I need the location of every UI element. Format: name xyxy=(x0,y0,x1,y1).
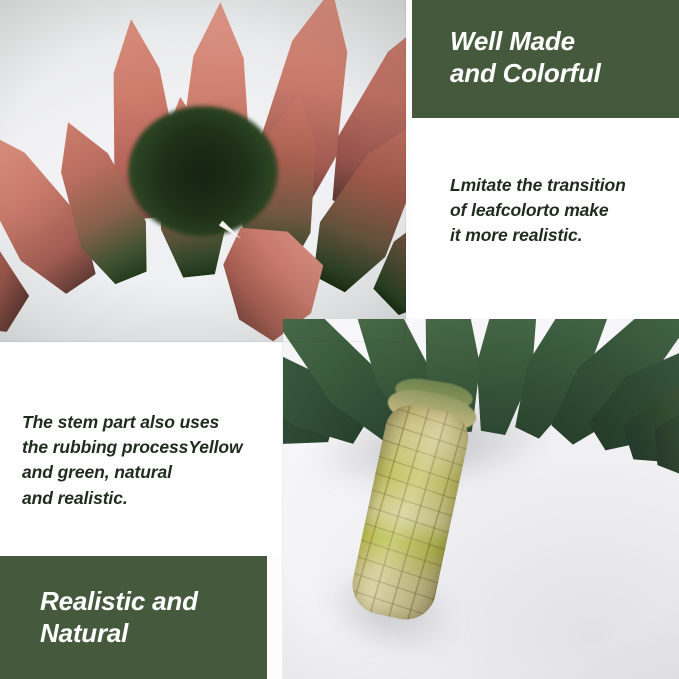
paragraph-leaf-color-transition: Lmitate the transition of leafcolorto ma… xyxy=(450,173,665,249)
divider xyxy=(405,0,406,342)
divider xyxy=(0,341,406,342)
headline-realistic-and-natural: Realistic and Natural xyxy=(40,586,198,649)
divider xyxy=(282,319,283,679)
photo-succulent-top-view xyxy=(0,0,406,342)
rosette-core xyxy=(128,106,278,236)
headline-block-bottom-left: Realistic and Natural xyxy=(0,556,267,679)
photo-stem-underside xyxy=(283,319,679,679)
product-collage: Well Made and Colorful Lmitate the trans… xyxy=(0,0,679,679)
paragraph-stem-rubbing-process: The stem part also uses the rubbing proc… xyxy=(22,410,272,511)
leaf xyxy=(653,395,679,488)
paragraph-panel-left: The stem part also uses the rubbing proc… xyxy=(0,342,283,556)
paragraph-panel-right: Lmitate the transition of leafcolorto ma… xyxy=(412,118,679,318)
headline-well-made-and-colorful: Well Made and Colorful xyxy=(450,26,601,89)
headline-block-top-right: Well Made and Colorful xyxy=(412,0,679,118)
